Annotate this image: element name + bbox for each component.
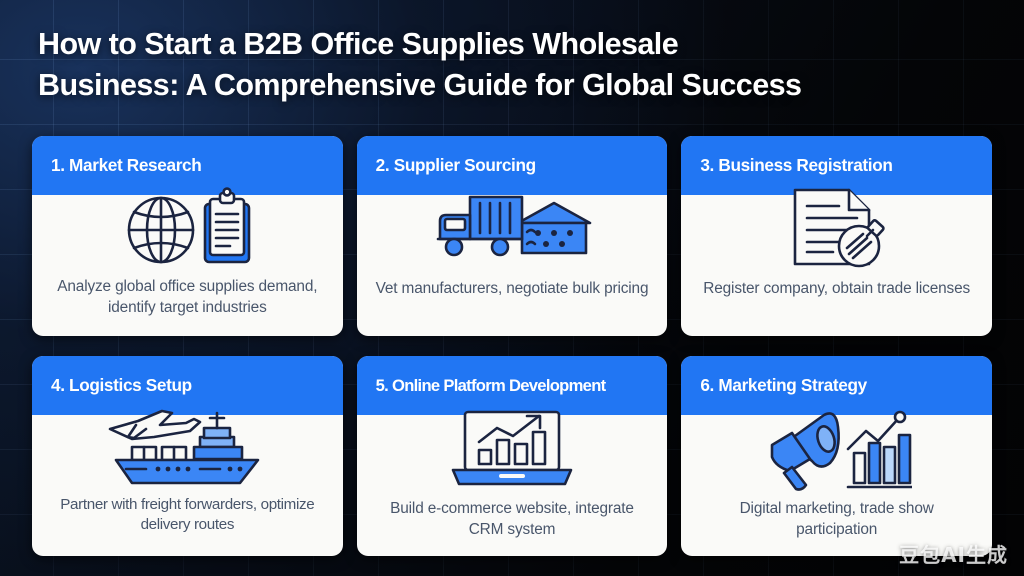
- step-card-6[interactable]: 6. Marketing Strategy: [681, 356, 992, 556]
- step-card-4-title: 4. Logistics Setup: [51, 375, 192, 396]
- page-title-line-2: Business: A Comprehensive Guide for Glob…: [38, 65, 988, 106]
- page-title-line-1: How to Start a B2B Office Supplies Whole…: [38, 24, 988, 65]
- step-card-3-description: Register company, obtain trade licenses: [699, 279, 974, 300]
- step-card-5-body: Build e-commerce website, integrate CRM …: [357, 415, 668, 556]
- step-card-4[interactable]: 4. Logistics Setup: [32, 356, 343, 556]
- step-card-2[interactable]: 2. Supplier Sourcing: [357, 136, 668, 336]
- truck-warehouse-icon: [432, 183, 592, 275]
- step-card-2-body: Vet manufacturers, negotiate bulk pricin…: [357, 195, 668, 336]
- step-card-6-body: Digital marketing, trade show participat…: [681, 415, 992, 556]
- step-card-grid: 1. Market Research: [32, 136, 992, 556]
- step-card-1-body: Analyze global office supplies demand, i…: [32, 195, 343, 336]
- step-card-1-title: 1. Market Research: [51, 155, 201, 176]
- step-card-5[interactable]: 5. Online Platform Development: [357, 356, 668, 556]
- laptop-growth-chart-icon: [447, 403, 577, 495]
- step-card-4-description: Partner with freight forwarders, optimiz…: [46, 495, 329, 536]
- megaphone-bar-chart-icon: [762, 403, 912, 495]
- page-title: How to Start a B2B Office Supplies Whole…: [38, 24, 988, 107]
- step-card-2-description: Vet manufacturers, negotiate bulk pricin…: [372, 279, 653, 300]
- airplane-cargo-ship-icon: [102, 403, 272, 495]
- step-card-6-title: 6. Marketing Strategy: [700, 375, 867, 396]
- step-card-5-description: Build e-commerce website, integrate CRM …: [371, 499, 654, 540]
- step-card-4-body: Partner with freight forwarders, optimiz…: [32, 415, 343, 556]
- step-card-1-description: Analyze global office supplies demand, i…: [46, 277, 329, 318]
- step-card-1[interactable]: 1. Market Research: [32, 136, 343, 336]
- step-card-3-title: 3. Business Registration: [700, 155, 892, 176]
- globe-clipboard-icon: [117, 183, 257, 275]
- infographic-canvas: How to Start a B2B Office Supplies Whole…: [0, 0, 1024, 576]
- document-stamp-icon: [777, 183, 897, 275]
- step-card-5-title: 5. Online Platform Development: [376, 376, 606, 396]
- step-card-6-description: Digital marketing, trade show participat…: [695, 499, 978, 540]
- step-card-3[interactable]: 3. Business Registration: [681, 136, 992, 336]
- step-card-3-body: Register company, obtain trade licenses: [681, 195, 992, 336]
- step-card-2-title: 2. Supplier Sourcing: [376, 155, 536, 176]
